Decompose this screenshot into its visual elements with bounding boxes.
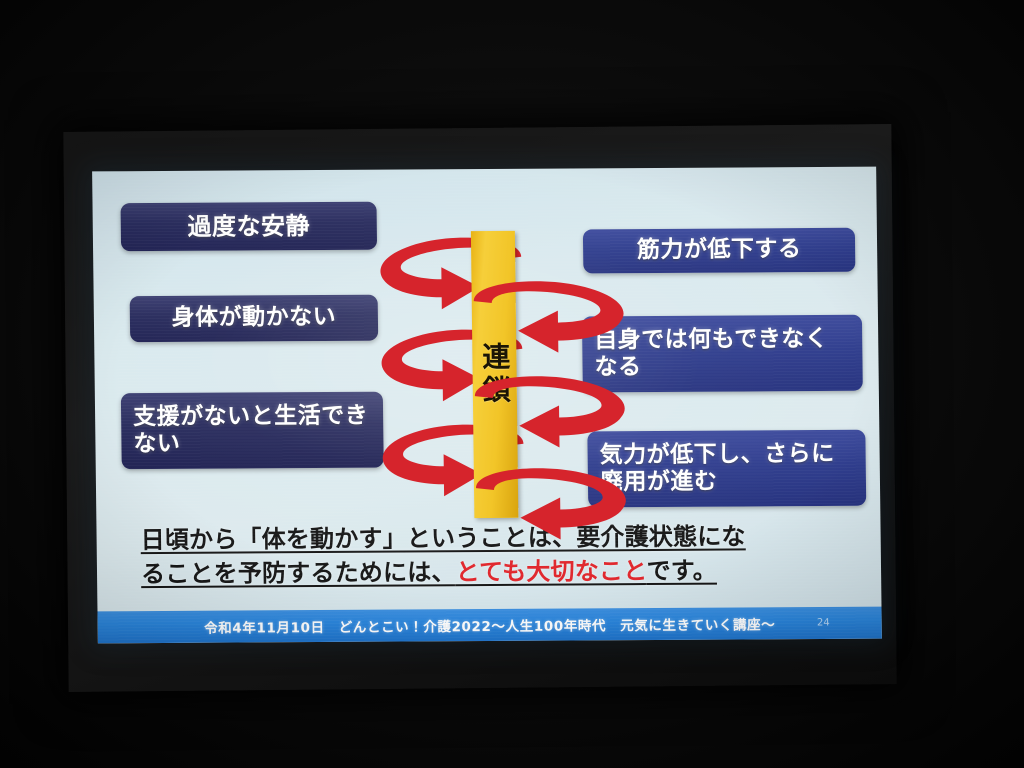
caption-line-2: ることを予防するためには、とても大切なことです。: [141, 553, 853, 591]
left-box-2-label: 身体が動かない: [172, 304, 337, 332]
right-box-3-label: 気力が低下し、さらに廃用が進む: [599, 441, 854, 497]
left-box-3-label: 支援がないと生活できない: [133, 403, 372, 459]
slide-canvas: 過度な安静 身体が動かない 支援がないと生活できない 筋力が低下する 自身では何…: [92, 167, 882, 644]
left-box-1-label: 過度な安静: [187, 212, 310, 241]
left-box-2: 身体が動かない: [130, 295, 379, 343]
chain-arrow-left-3: [456, 465, 637, 548]
chain-arrow-left-1: [453, 278, 634, 361]
footer-text: 令和4年11月10日 どんとこい！介護2022〜人生100年時代 元気に生きてい…: [204, 613, 775, 636]
projected-slide: 過度な安静 身体が動かない 支援がないと生活できない 筋力が低下する 自身では何…: [92, 167, 882, 644]
slide-footer: 令和4年11月10日 どんとこい！介護2022〜人生100年時代 元気に生きてい…: [97, 607, 881, 644]
caption-line-2-part-b: です。: [646, 557, 717, 585]
projection-room-background: 過度な安静 身体が動かない 支援がないと生活できない 筋力が低下する 自身では何…: [0, 0, 1024, 768]
left-box-3: 支援がないと生活できない: [121, 392, 384, 470]
chain-arrow-left-2: [455, 373, 636, 456]
caption-highlight: とても大切なこと: [455, 557, 646, 586]
left-box-1: 過度な安静: [121, 202, 378, 252]
page-number: 24: [817, 617, 830, 628]
right-box-1-label: 筋力が低下する: [637, 237, 802, 265]
right-box-1: 筋力が低下する: [583, 228, 856, 274]
caption-line-2-part-a: ることを予防するためには、: [141, 558, 456, 588]
